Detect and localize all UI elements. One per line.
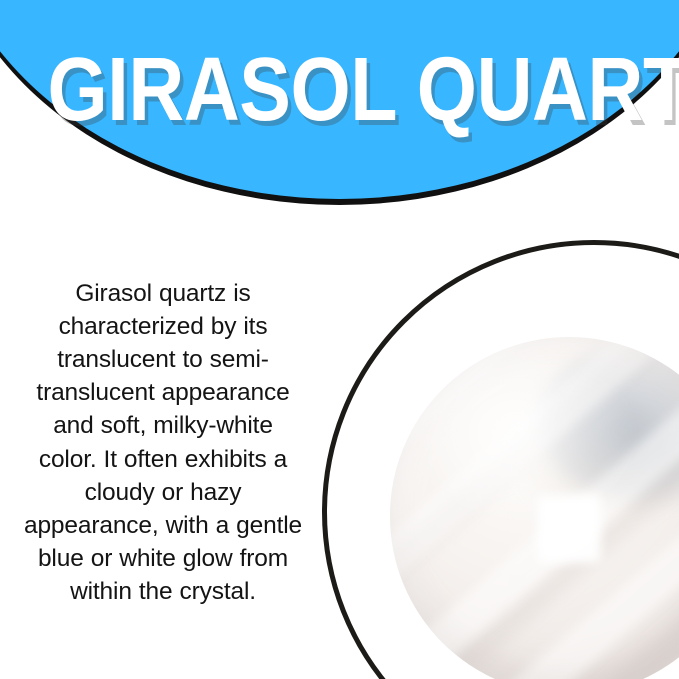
- header-banner: GIRASOL QUARTZ: [0, 0, 679, 215]
- girasol-quartz-infographic: GIRASOL QUARTZ Girasol quartz is charact…: [0, 0, 679, 679]
- description-paragraph: Girasol quartz is characterized by its t…: [22, 277, 304, 609]
- quartz-figure: girasol-quartz-sphere: [300, 225, 679, 679]
- quartz-figure-alt-text: girasol-quartz-sphere: [300, 225, 301, 226]
- page-title: GIRASOL QUARTZ: [48, 44, 632, 136]
- quartz-sphere-image: [390, 337, 679, 679]
